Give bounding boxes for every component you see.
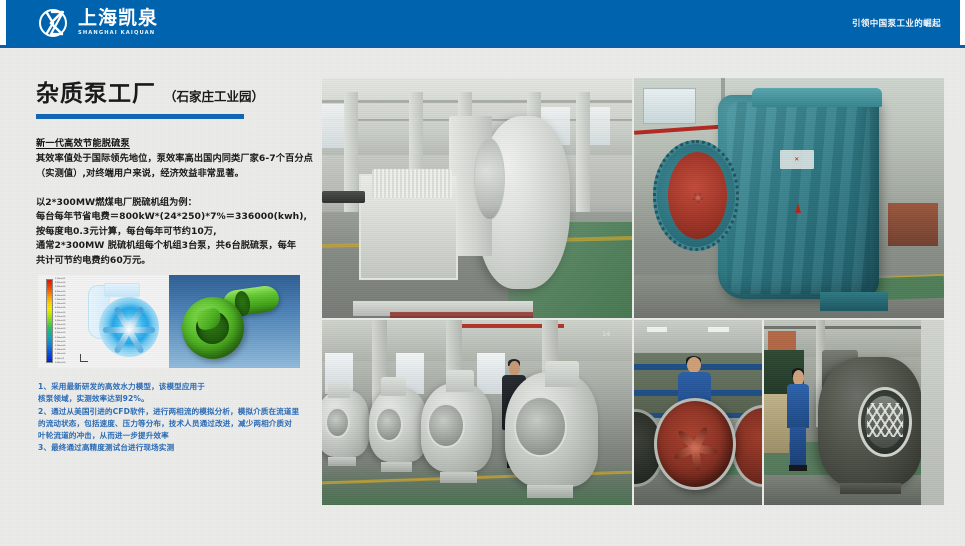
workshop-ceiling [634, 320, 762, 353]
cfd-tick: 9.00e+00 [55, 286, 77, 288]
page-header: 上海凯泉 SHANGHAI KAIQUAN 引领中国泵工业的崛起 [0, 0, 965, 45]
worker-shoes [789, 465, 807, 471]
cfd-tick: 0.00e+00 [55, 362, 77, 364]
pump-inlet-neck [328, 381, 350, 398]
ceiling-lamp [708, 327, 728, 332]
pump-inlet-neck [381, 377, 406, 396]
cfd-tick: 7.00e+00 [55, 303, 77, 305]
page-title: 杂质泵工厂 （石家庄工业园） [36, 82, 318, 107]
cfd-image-row: 1.00e+01 9.50e+00 9.00e+00 8.50e+00 8.00… [38, 275, 300, 368]
cfd-tick: 1.00e+00 [55, 353, 77, 355]
cfd-tick: 4.50e+00 [55, 324, 77, 326]
header-slogan: 引领中国泵工业的崛起 [852, 0, 941, 45]
cfd-tick: 2.00e+00 [55, 345, 77, 347]
pump-support-foot [328, 457, 356, 466]
note-line: 核泵领域，实测效率达到92%。 [38, 393, 326, 405]
workshop-window [477, 353, 505, 394]
worker-head [509, 361, 520, 376]
brand-logo[interactable]: 上海凯泉 SHANGHAI KAIQUAN [38, 7, 158, 39]
cfd-axis-triad-icon [80, 352, 90, 362]
page-title-sub: （石家庄工业园） [164, 86, 264, 105]
example-line: 共计可节约电费约60万元。 [36, 254, 318, 269]
pump-suction-eye [427, 403, 464, 447]
pump-suction-eye [514, 396, 567, 457]
header-right-edge [960, 0, 965, 45]
worker-person [787, 370, 809, 470]
cfd-colorbar-legend [46, 279, 53, 363]
page-title-main: 杂质泵工厂 [36, 82, 156, 107]
worker-blue-uniform [787, 384, 809, 428]
pump-suction-eye [375, 407, 403, 442]
pump-support-foot [820, 292, 888, 311]
cfd-impeller-contour [99, 297, 159, 357]
overhead-crane [768, 331, 797, 350]
cfd-tick: 1.50e+00 [55, 349, 77, 351]
note-line: 叶轮流道的冲击，从而进一步提升效率 [38, 430, 326, 442]
technical-notes: 1、采用最新研发的高效水力模型，该模型应用于 核泵领域，实测效率达到92%。 2… [38, 381, 326, 455]
cfd-contour-plot-image: 1.00e+01 9.50e+00 9.00e+00 8.50e+00 8.00… [38, 275, 169, 368]
cfd-tick: 4.00e+00 [55, 328, 77, 330]
casing-support-foot [840, 483, 901, 494]
pump-support-foot [381, 462, 412, 471]
casing-rib-pattern [727, 102, 870, 294]
bearing-cooling-fins [372, 169, 453, 198]
red-impeller [668, 152, 727, 238]
roof-beam [764, 326, 944, 330]
worker-head [687, 357, 701, 373]
example-line: 按每度电0.3元计算，每台每年可节约10万, [36, 225, 318, 240]
pump-inlet-neck [545, 361, 579, 387]
header-accent-rule [0, 45, 965, 48]
ceiling-lamp [647, 327, 667, 332]
photo-red-impellers [634, 320, 762, 505]
cfd-tick: 9.50e+00 [55, 282, 77, 284]
cfd-tick: 1.00e+01 [55, 278, 77, 280]
intro-paragraph: 其效率值处于国际领先地位，泵效率高出国内同类厂家6-7个百分点（实测值）,对终端… [36, 152, 318, 181]
slide-canvas: 上海凯泉 SHANGHAI KAIQUAN 引领中国泵工业的崛起 杂质泵工厂 （… [0, 0, 965, 546]
cfd-tick: 6.00e+00 [55, 312, 77, 314]
note-line: 3、最终通过高精度测试台进行现场实测 [38, 442, 326, 454]
cfd-colorbar-ticks: 1.00e+01 9.50e+00 9.00e+00 8.50e+00 8.00… [55, 278, 77, 364]
kaiquan-logo-plate-icon: ✕ [780, 150, 814, 169]
pump-suction-eye [325, 407, 350, 438]
cfd-tick: 6.50e+00 [55, 307, 77, 309]
kaiquan-circle-mark-icon [38, 8, 72, 38]
cfd-throat-channel [104, 283, 140, 297]
pump-support-foot [527, 485, 574, 498]
background-machinery [888, 203, 938, 246]
pump-support-foot [440, 472, 477, 483]
note-line: 的流动状态，包括速度、压力等分布，技术人员通过改进，减少两相介质对 [38, 418, 326, 430]
header-left-edge [0, 0, 6, 45]
photo-teal-pump-casing: ✕ [634, 78, 944, 318]
photo-pump-casing-row: 14 [322, 320, 632, 505]
cfd-tick: 2.50e+00 [55, 341, 77, 343]
cfd-tick: 5.00e-01 [55, 358, 77, 360]
cfd-tick: 5.00e+00 [55, 320, 77, 322]
rotation-arrow-icon [795, 203, 801, 213]
note-line: 2、通过从美国引进的CFD软件，进行两相流的模拟分析，模拟介质在流道里 [38, 406, 326, 418]
intro-block: 新一代高效节能脱硫泵 其效率值处于国际领先地位，泵效率高出国内同类厂家6-7个百… [36, 135, 318, 181]
pump-shaft [322, 191, 365, 203]
cfd-tick: 5.50e+00 [55, 316, 77, 318]
example-line: 以2*300MW燃煤电厂脱硫机组为例： [36, 196, 318, 211]
example-block: 以2*300MW燃煤电厂脱硫机组为例： 每台每年节省电费＝800kW*(24*2… [36, 196, 318, 269]
cfd-tick: 3.50e+00 [55, 332, 77, 334]
cfd-tick: 8.00e+00 [55, 295, 77, 297]
example-line: 通常2*300MW 脱硫机组每个机组3台泵，共6台脱硫泵，每年 [36, 239, 318, 254]
bay-number-label: 14 [602, 331, 610, 338]
title-underline-rule [36, 114, 244, 119]
red-floor-mat [390, 312, 533, 318]
left-content-column: 杂质泵工厂 （石家庄工业园） 新一代高效节能脱硫泵 其效率值处于国际领先地位，泵… [36, 82, 318, 268]
pump-bolted-flange [474, 138, 505, 220]
cfd-volute-geometry [86, 281, 164, 363]
brand-name-cn: 上海凯泉 [78, 9, 158, 28]
photo-white-pump-workshop [322, 78, 632, 318]
intro-heading: 新一代高效节能脱硫泵 [36, 135, 318, 149]
wooden-crate [764, 394, 789, 453]
background-scaffold [867, 403, 903, 436]
workshop-column [576, 92, 590, 212]
workshop-window [643, 88, 696, 124]
casing-top-flange [752, 88, 882, 107]
worker-legs [790, 427, 806, 467]
cfd-tick: 7.50e+00 [55, 299, 77, 301]
photo-raw-casing-worker [764, 320, 944, 505]
photo-grid: ✕ [322, 78, 944, 505]
cfd-tick: 8.50e+00 [55, 291, 77, 293]
note-line: 1、采用最新研发的高效水力模型，该模型应用于 [38, 381, 326, 393]
impeller-red-main [654, 398, 736, 491]
volute-3d-model-image [169, 275, 300, 368]
brand-name-en: SHANGHAI KAIQUAN [78, 31, 155, 36]
example-line: 每台每年节省电费＝800kW*(24*250)*7%＝336000(kwh), [36, 210, 318, 225]
cfd-tick: 3.00e+00 [55, 337, 77, 339]
pump-inlet-neck [446, 370, 474, 392]
photo-right-edge-panel [921, 320, 944, 505]
